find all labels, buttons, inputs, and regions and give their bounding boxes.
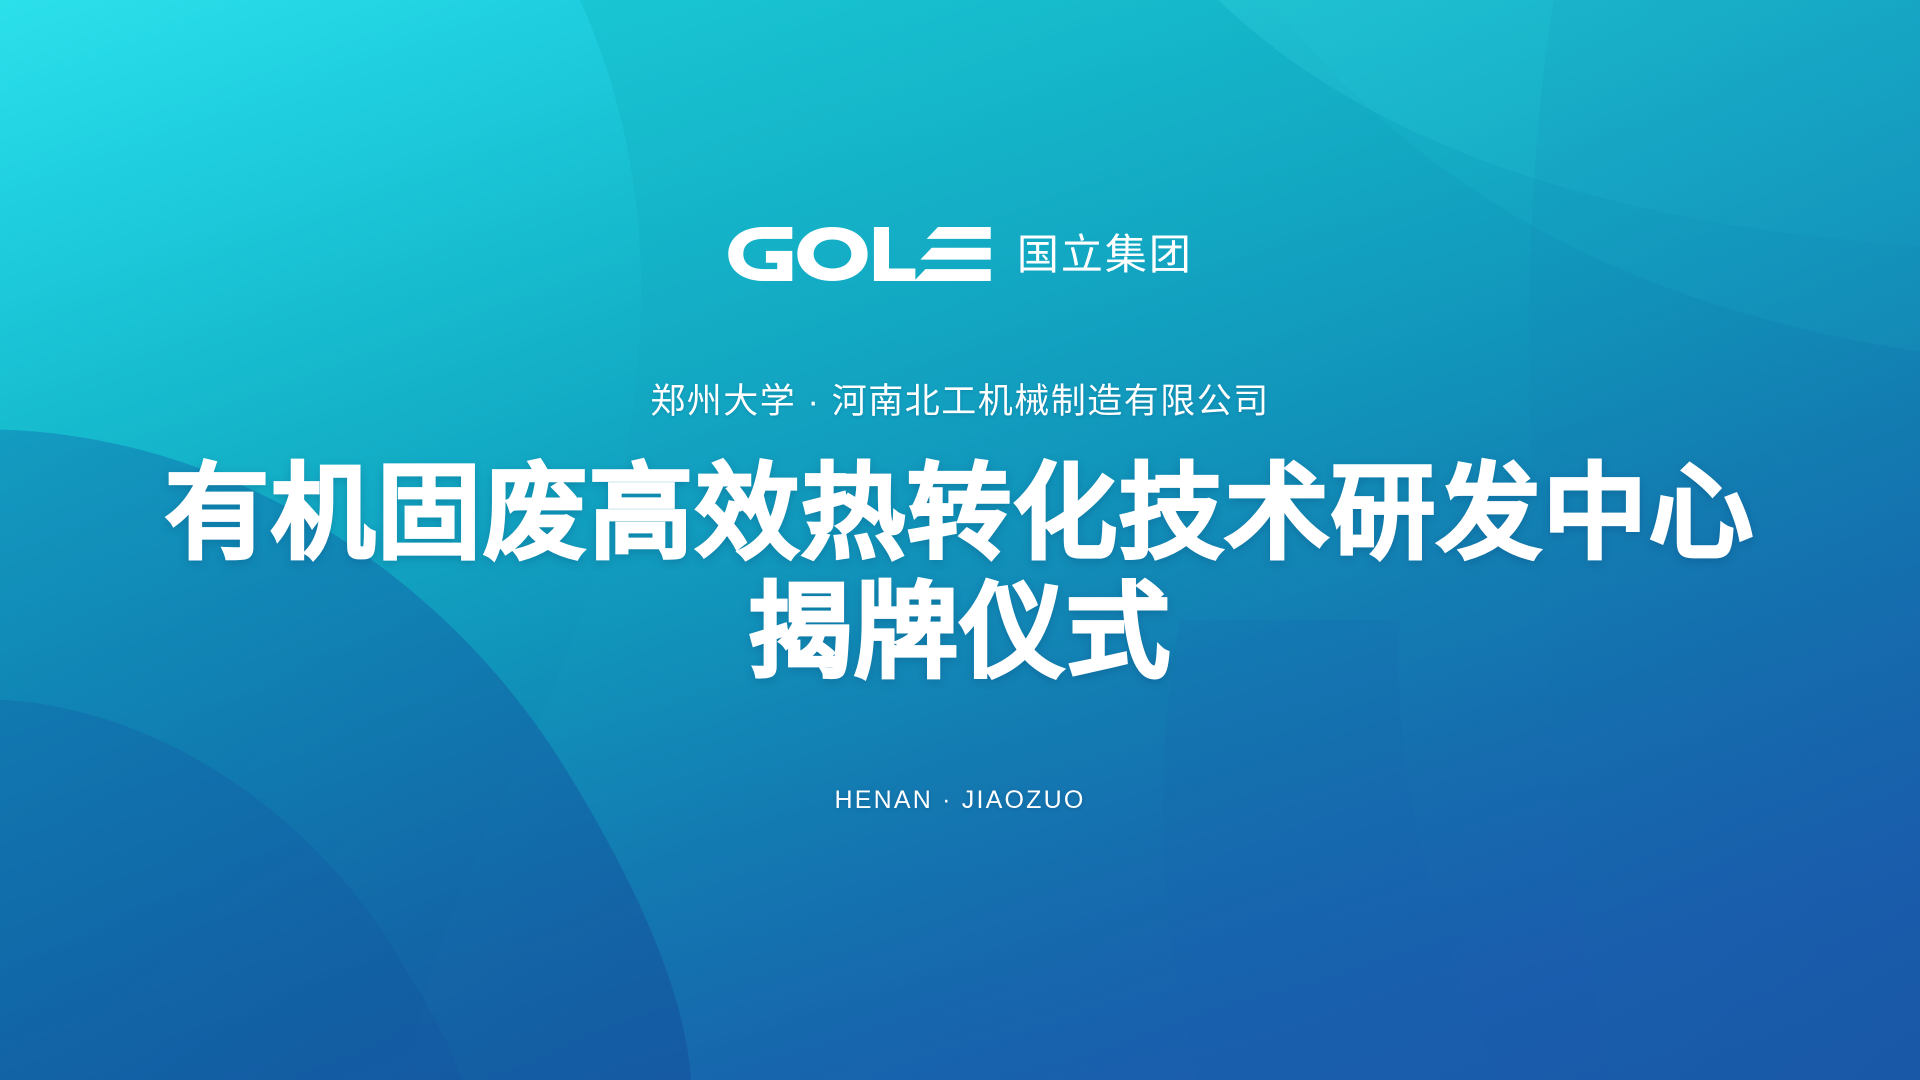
brand-logo: 国立集团: [727, 226, 1193, 282]
organizations-subtitle: 郑州大学 · 河南北工机械制造有限公司: [650, 384, 1270, 419]
location-footer: HENAN · JIAOZUO: [834, 788, 1085, 813]
slide-canvas: 国立集团 郑州大学 · 河南北工机械制造有限公司 有机固废高效热转化技术研发中心…: [0, 0, 1920, 1080]
event-title: 有机固废高效热转化技术研发中心 揭牌仪式: [165, 455, 1755, 692]
gole-wordmark-logo: [727, 227, 991, 281]
slide-content: 国立集团 郑州大学 · 河南北工机械制造有限公司 有机固废高效热转化技术研发中心…: [0, 0, 1920, 1080]
event-title-line-2: 揭牌仪式: [165, 574, 1755, 693]
brand-name-cn: 国立集团: [1017, 234, 1193, 276]
event-title-line-1: 有机固废高效热转化技术研发中心: [165, 455, 1755, 574]
